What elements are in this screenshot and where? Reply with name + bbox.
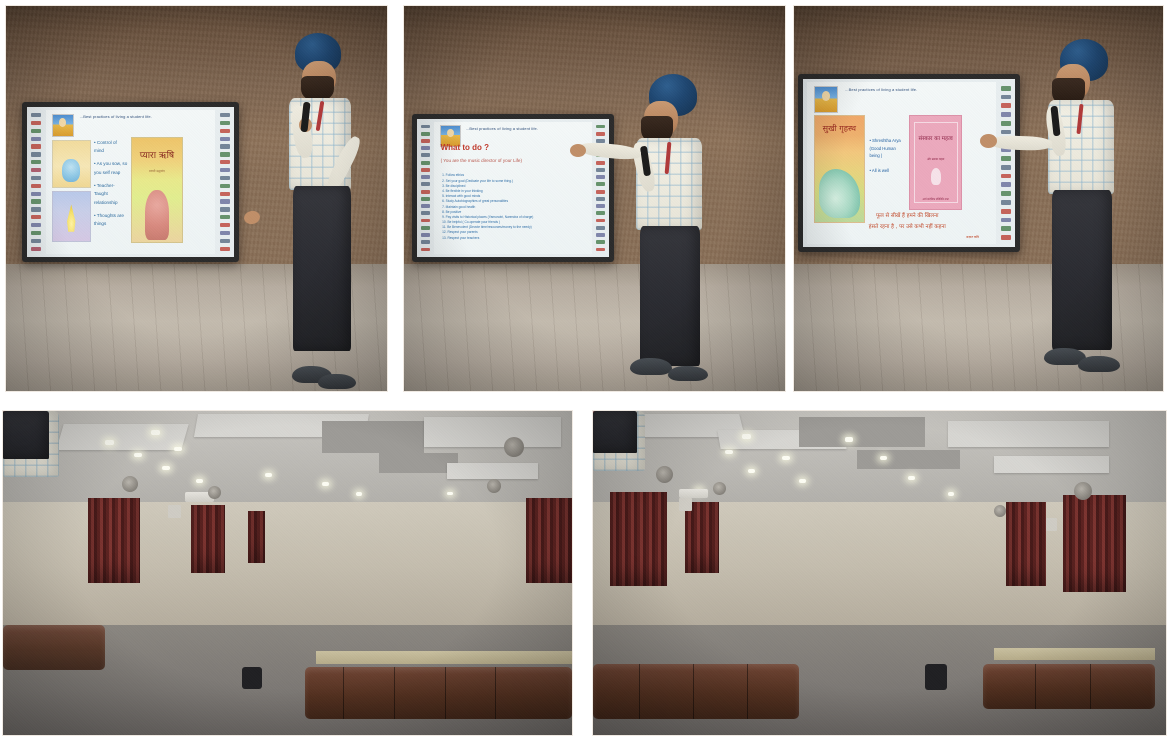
ceiling-panel [994, 456, 1109, 472]
slide-3-bullets: • Shreshtha Arya (Good Human being ) • A… [870, 137, 904, 181]
trousers [640, 226, 700, 366]
photo-1: ...Best practices of living a student li… [5, 5, 388, 392]
auditorium-background-right [593, 411, 1166, 735]
whiteboard-surface-2: ...Best practices of living a student li… [417, 119, 609, 257]
ceiling-light [447, 492, 453, 495]
book-title: सुखी गृहस्थ [815, 123, 864, 134]
ceiling-light [748, 469, 755, 473]
swami-portrait-icon [52, 114, 74, 138]
wall-speaker [679, 498, 692, 511]
ceiling-light [265, 473, 272, 477]
list-item: 13. Respect your teachers [442, 236, 585, 241]
bullet-3: • Teacher-Taught relationship [94, 182, 128, 207]
wall-fan [994, 505, 1006, 517]
ceiling-light [799, 479, 806, 483]
wall-speaker [1046, 518, 1057, 531]
whiteboard-button-strip-left-2[interactable] [419, 125, 431, 252]
ceiling-light [134, 453, 142, 457]
desk-row [994, 648, 1154, 661]
ceiling-panel [948, 421, 1108, 447]
book-title: प्यारा ऋषि [132, 148, 183, 161]
bullet-1: • Shreshtha Arya (Good Human being ) [870, 137, 904, 160]
trousers [293, 186, 351, 351]
whiteboard-surface-1: ...Best practices of living a student li… [27, 107, 234, 257]
curtain [88, 498, 139, 582]
quote-line-2: हंसते रहना है , पर उसे कभी नहीं कहना [834, 222, 981, 233]
interactive-whiteboard-2: ...Best practices of living a student li… [412, 114, 614, 262]
trousers [3, 411, 49, 459]
sofa-row [305, 667, 572, 719]
photo-3: ...Best practices of living a student li… [793, 5, 1164, 392]
auditorium-background-left [3, 411, 572, 735]
sofa-row [593, 664, 799, 719]
ceiling-light [162, 466, 170, 470]
wall-fan [656, 466, 673, 483]
slide-2: ...Best practices of living a student li… [434, 122, 591, 255]
curtain [610, 492, 667, 586]
pointing-hand [570, 144, 586, 157]
shoe-left [630, 358, 672, 375]
ceiling-light [880, 456, 887, 460]
shoe-right [668, 366, 708, 381]
trousers [1052, 190, 1112, 350]
slide-3: ...Best practices of living a student li… [807, 82, 996, 243]
ceiling-recess [799, 417, 925, 446]
book-inner-frame [914, 122, 958, 202]
book-title: संस्कार का महत्व [910, 136, 961, 143]
ceiling-light [782, 456, 790, 460]
slide-header-3: ...Best practices of living a student li… [845, 87, 988, 92]
slide-1-bullets: • Control of mind • As you sow, so you s… [94, 139, 128, 233]
book-cover-lamp [52, 191, 91, 242]
slide-header-2: ...Best practices of living a student li… [466, 126, 586, 131]
whiteboard-button-strip-left[interactable] [29, 113, 42, 251]
ceiling-light [151, 430, 160, 435]
book-cover-sanskar: संस्कार का महत्व और उसका महत्व आर्य प्रा… [909, 115, 962, 211]
ceiling-panel [56, 424, 189, 450]
slide-2-subtitle: ( You are the music director of your Lif… [441, 158, 522, 163]
photo-2: ...Best practices of living a student li… [403, 5, 786, 392]
wall-speaker [168, 505, 181, 518]
photo-collage: ...Best practices of living a student li… [0, 0, 1170, 738]
bullet-2: • As you sow, so you self reap [94, 160, 128, 177]
ceiling-fan [504, 437, 524, 457]
ceiling-light [742, 434, 751, 439]
book-cover-pyara-rishi: प्यारा ऋषि स्वामी श्रद्धानंद [131, 137, 184, 243]
whiteboard-button-strip-right-3[interactable] [999, 86, 1013, 241]
quote-attribution: अज्ञात कवि [966, 235, 979, 239]
shoe-right [1078, 356, 1120, 372]
book-subtitle: और उसका महत्व [910, 157, 961, 161]
ceiling-light [845, 437, 853, 442]
ceiling-light [725, 450, 733, 454]
ceiling-light [174, 447, 182, 451]
trousers [593, 411, 637, 453]
bullet-2: • All is well [870, 167, 904, 175]
book-subtitle: स्वामी श्रद्धानंद [132, 169, 183, 173]
ceiling-light [908, 476, 915, 480]
sofa-left [3, 625, 105, 670]
curtain [526, 498, 572, 582]
chair [242, 667, 262, 689]
curtain [685, 502, 719, 573]
book-cover-sukhi-grihasth: सुखी गृहस्थ [814, 115, 865, 223]
bullet-4: • Thoughts are things [94, 212, 128, 229]
interactive-whiteboard-1: ...Best practices of living a student li… [22, 102, 239, 262]
ceiling-light [105, 440, 114, 445]
curtain [248, 511, 265, 563]
curtain [1063, 495, 1126, 592]
photo-4 [2, 410, 573, 736]
whiteboard-button-strip-right[interactable] [218, 113, 231, 251]
ceiling-recess [322, 421, 424, 453]
chair [925, 664, 947, 690]
ceiling-light [948, 492, 954, 496]
interactive-whiteboard-3: ...Best practices of living a student li… [798, 74, 1020, 252]
ceiling-light [322, 482, 329, 486]
ceiling-light [356, 492, 362, 496]
slide-header: ...Best practices of living a student li… [80, 114, 209, 119]
swami-portrait-icon-3 [814, 86, 839, 112]
air-conditioner [679, 489, 708, 499]
quote-line-1: फूल से सीखें हैं हमने की खिलना [834, 211, 981, 222]
book-illustration [931, 168, 941, 185]
curtain [1006, 502, 1046, 586]
desk-row [316, 651, 572, 664]
shoe-right [318, 374, 356, 389]
slide-2-list: 1. Follow ethics 2. Set your goal (Dedic… [442, 173, 585, 240]
bullet-1: • Control of mind [94, 139, 128, 156]
ceiling-panel [424, 417, 561, 446]
photo-5 [592, 410, 1167, 736]
pointing-hand [980, 134, 997, 148]
wall-fan [487, 479, 501, 493]
wall-fan [208, 486, 221, 499]
ceiling-recess [857, 450, 960, 469]
whiteboard-surface-3: ...Best practices of living a student li… [803, 79, 1015, 247]
curtain [191, 505, 225, 573]
floor-2 [404, 264, 785, 391]
ceiling-panel [447, 463, 538, 479]
slide-2-title: What to do ? [441, 143, 489, 152]
slide-3-quote: फूल से सीखें हैं हमने की खिलना हंसते रहन… [834, 211, 981, 233]
book-cover-yoga [52, 140, 91, 188]
ceiling-light [196, 479, 203, 483]
book-footer: आर्य प्रादेशिक प्रतिनिधि सभा [910, 197, 961, 201]
slide-1: ...Best practices of living a student li… [46, 110, 216, 254]
sofa-row-right [983, 664, 1155, 709]
